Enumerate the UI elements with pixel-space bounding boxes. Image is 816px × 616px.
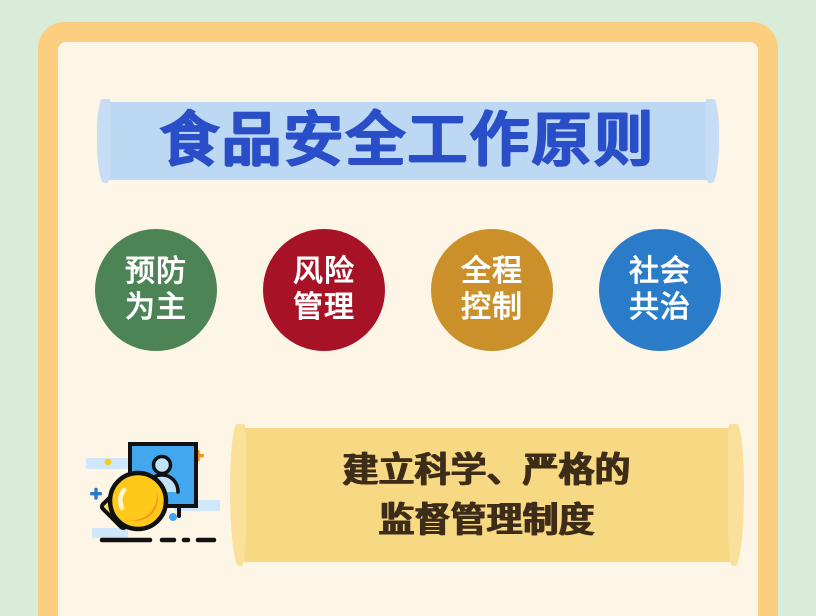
- magnifier-inspection-icon: [78, 432, 228, 558]
- principle-circle-prevention-first[interactable]: 预防 为主: [95, 229, 217, 351]
- note-line-2: 监督管理制度: [240, 496, 734, 546]
- note-text: 建立科学、严格的 监督管理制度: [240, 446, 734, 546]
- poster: 食品安全工作原则 预防 为主 风险 管理 全程 控制 社会 共治: [0, 0, 816, 616]
- principle-line-2: 为主: [125, 290, 187, 326]
- principle-line-2: 控制: [461, 290, 523, 326]
- note-line-1: 建立科学、严格的: [240, 446, 734, 496]
- principle-circle-risk-management[interactable]: 风险 管理: [263, 229, 385, 351]
- page-title: 食品安全工作原则: [58, 104, 758, 176]
- note-section: 建立科学、严格的 监督管理制度: [58, 424, 758, 584]
- title-section: 食品安全工作原则: [58, 84, 758, 194]
- principle-circle-whole-process-control[interactable]: 全程 控制: [431, 229, 553, 351]
- principle-line-2: 管理: [293, 290, 355, 326]
- principle-circle-social-co-governance[interactable]: 社会 共治: [599, 229, 721, 351]
- principles-row: 预防 为主 风险 管理 全程 控制 社会 共治: [58, 220, 758, 360]
- principle-line-1: 预防: [125, 254, 187, 290]
- principle-line-2: 共治: [629, 290, 691, 326]
- principle-line-1: 社会: [629, 254, 691, 290]
- poster-inner: 食品安全工作原则 预防 为主 风险 管理 全程 控制 社会 共治: [58, 42, 758, 616]
- principle-line-1: 全程: [461, 254, 523, 290]
- principle-line-1: 风险: [293, 254, 355, 290]
